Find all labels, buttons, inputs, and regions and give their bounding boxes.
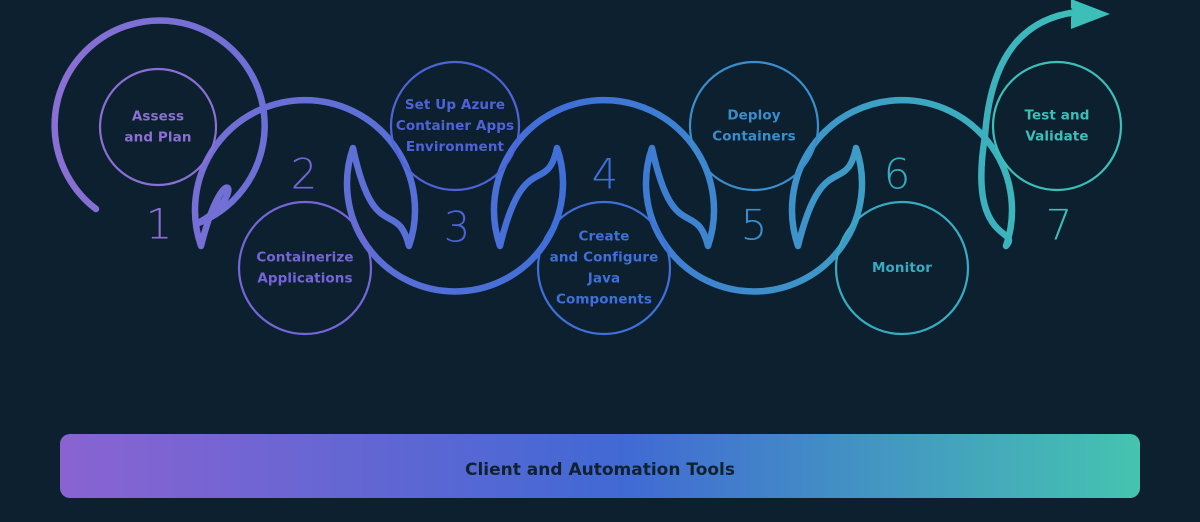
- step-number-3: 3: [444, 203, 471, 252]
- step-number-7: 7: [1046, 201, 1073, 250]
- step-label-3: Container Apps: [396, 118, 514, 134]
- step-label-4: Java: [587, 271, 620, 287]
- step-inner-circle-2[interactable]: [239, 202, 371, 334]
- diagram-canvas: 1234567 Assessand PlanContainerizeApplic…: [0, 0, 1200, 522]
- step-number-6: 6: [884, 150, 911, 199]
- step-label-6: Monitor: [872, 260, 932, 276]
- step-number-4: 4: [592, 150, 619, 199]
- footer-bar-label: Client and Automation Tools: [465, 460, 735, 480]
- step-label-1: and Plan: [124, 130, 191, 146]
- step-inner-circle-4[interactable]: [538, 202, 670, 334]
- step-label-3: Set Up Azure: [405, 97, 505, 113]
- step-label-2: Containerize: [256, 250, 353, 266]
- step-label-7: Validate: [1025, 129, 1088, 145]
- step-label-7: Test and: [1025, 108, 1090, 124]
- step-label-1: Assess: [132, 109, 184, 125]
- step-number-5: 5: [741, 201, 768, 250]
- flow-arrowhead: [1071, 0, 1110, 29]
- step-number-2: 2: [291, 150, 318, 199]
- step-label-4: Components: [556, 292, 652, 308]
- step-number-1: 1: [146, 200, 173, 249]
- step-inner-circle-1[interactable]: [100, 69, 216, 185]
- step-label-4: Create: [578, 229, 629, 245]
- step-label-5: Deploy: [727, 108, 780, 124]
- footer-bar[interactable]: Client and Automation Tools: [60, 434, 1140, 498]
- step-label-5: Containers: [712, 129, 795, 145]
- process-flow-diagram: 1234567 Assessand PlanContainerizeApplic…: [0, 0, 1200, 522]
- step-label-4: and Configure: [550, 250, 659, 266]
- step-inner-circle-7[interactable]: [993, 62, 1121, 190]
- step-label-3: Environment: [406, 139, 505, 155]
- step-label-2: Applications: [257, 271, 352, 287]
- step-inner-circle-5[interactable]: [690, 62, 818, 190]
